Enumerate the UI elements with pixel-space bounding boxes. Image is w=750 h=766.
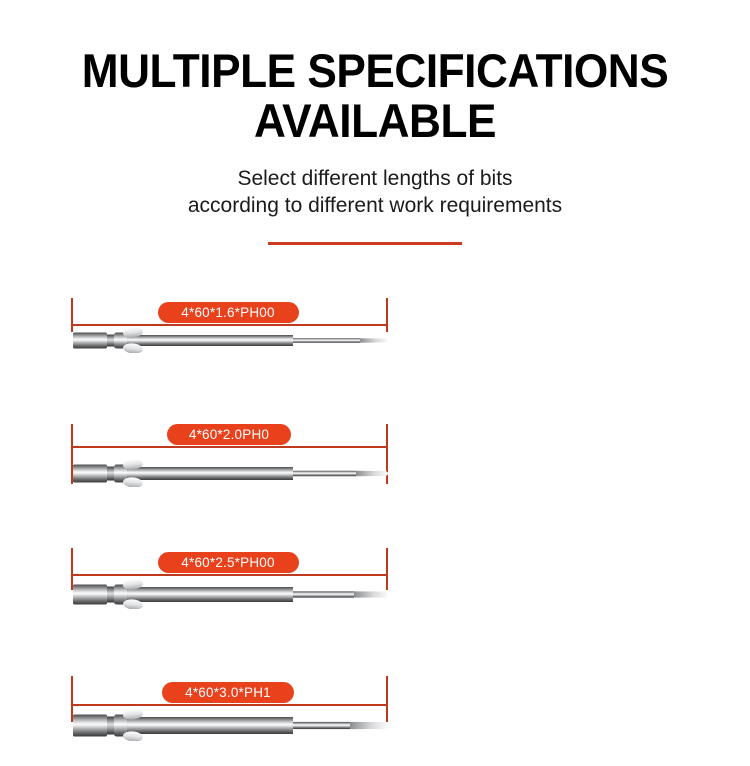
screwdriver-bit-image [73, 460, 390, 487]
bracket-tick-right [386, 298, 388, 332]
bracket-line [71, 704, 388, 706]
subtitle-line-2: according to different work requirements [0, 192, 750, 219]
spec-label-badge: 4*60*1.6*PH00 [158, 302, 299, 323]
bracket-line [71, 574, 388, 576]
bracket-line [71, 446, 388, 448]
page-subtitle: Select different lengths of bits accordi… [0, 165, 750, 219]
screwdriver-bit-image [73, 328, 390, 353]
bracket-line [71, 324, 388, 326]
page-title: MULTIPLE SPECIFICATIONS AVAILABLE [23, 46, 728, 146]
screwdriver-bit-image [73, 710, 390, 741]
bracket-tick-left [71, 298, 73, 332]
spec-label-badge: 4*60*2.0PH0 [167, 424, 291, 445]
page-header: MULTIPLE SPECIFICATIONS AVAILABLE Select… [0, 46, 750, 219]
subtitle-line-1: Select different lengths of bits [0, 165, 750, 192]
screwdriver-bit-image [73, 580, 390, 609]
header-divider [268, 242, 462, 245]
spec-label-badge: 4*60*2.5*PH00 [158, 552, 299, 573]
spec-label-badge: 4*60*3.0*PH1 [162, 682, 294, 703]
